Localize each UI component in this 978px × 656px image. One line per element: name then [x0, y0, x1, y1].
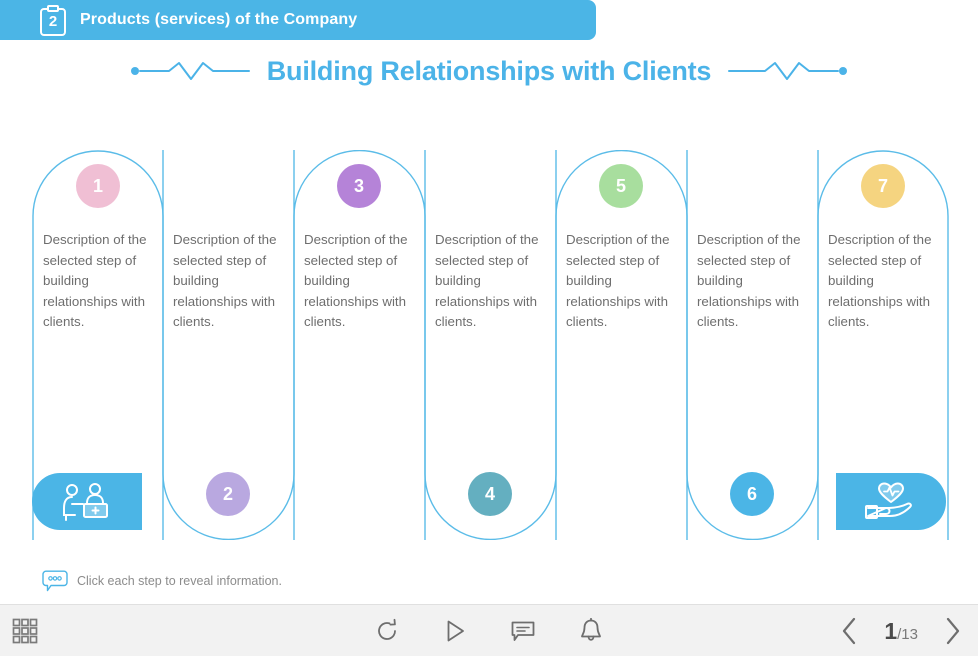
- step-number-badge-4[interactable]: 4: [468, 472, 512, 516]
- step-column-1[interactable]: 1 Description of the selected step of bu…: [33, 150, 164, 540]
- toolbar-center-group: [0, 605, 978, 656]
- step-number-label-2: 2: [223, 484, 233, 505]
- step-description-3: Description of the selected step of buil…: [304, 230, 416, 333]
- section-header-title: Products (services) of the Company: [80, 11, 357, 29]
- bottom-toolbar: 1/13: [0, 604, 978, 656]
- zigzag-decoration-left: [131, 60, 253, 82]
- step-number-label-3: 3: [354, 176, 364, 197]
- step-number-badge-3[interactable]: 3: [337, 164, 381, 208]
- step-column-4[interactable]: 4 Description of the selected step of bu…: [425, 150, 556, 540]
- hint-row: Click each step to reveal information.: [42, 570, 282, 592]
- step-column-3[interactable]: 3 Description of the selected step of bu…: [294, 150, 425, 540]
- slide-title-row: Building Relationships with Clients: [0, 52, 978, 90]
- step-description-2: Description of the selected step of buil…: [173, 230, 285, 333]
- step-column-6[interactable]: 6 Description of the selected step of bu…: [687, 150, 818, 540]
- step-number-label-6: 6: [747, 484, 757, 505]
- step-number-label-5: 5: [616, 176, 626, 197]
- section-header-banner: 2 Products (services) of the Company: [0, 0, 596, 40]
- step-number-badge-2[interactable]: 2: [206, 472, 250, 516]
- bell-icon[interactable]: [578, 618, 604, 644]
- step-description-7: Description of the selected step of buil…: [828, 230, 940, 333]
- current-page-number: 1: [884, 618, 897, 644]
- step-description-4: Description of the selected step of buil…: [435, 230, 547, 333]
- step-column-5[interactable]: 5 Description of the selected step of bu…: [556, 150, 687, 540]
- play-icon[interactable]: [442, 618, 468, 644]
- total-page-count: /13: [897, 626, 918, 643]
- step-column-2[interactable]: 2 Description of the selected step of bu…: [163, 150, 294, 540]
- page-indicator: 1/13: [884, 618, 918, 645]
- clipboard-number: 2: [40, 12, 66, 32]
- next-page-chevron-icon[interactable]: [940, 616, 964, 646]
- comment-icon[interactable]: [510, 618, 536, 644]
- replay-icon[interactable]: [374, 618, 400, 644]
- step-number-label-7: 7: [878, 176, 888, 197]
- prev-page-chevron-icon[interactable]: [838, 616, 862, 646]
- hint-text: Click each step to reveal information.: [77, 574, 282, 588]
- steps-diagram: 1 Description of the selected step of bu…: [0, 150, 978, 540]
- step-description-1: Description of the selected step of buil…: [43, 230, 155, 333]
- step-description-6: Description of the selected step of buil…: [697, 230, 809, 333]
- step-column-7[interactable]: 7 Description of the selected step of bu…: [818, 150, 949, 540]
- clipboard-icon: 2: [40, 5, 66, 36]
- step-number-label-4: 4: [485, 484, 495, 505]
- slide-canvas: 2 Products (services) of the Company Bui…: [0, 0, 978, 656]
- zigzag-decoration-right: [725, 60, 847, 82]
- step-number-badge-6[interactable]: 6: [730, 472, 774, 516]
- speech-bubble-icon: [42, 570, 68, 592]
- step-number-badge-7[interactable]: 7: [861, 164, 905, 208]
- step-number-badge-5[interactable]: 5: [599, 164, 643, 208]
- page-title: Building Relationships with Clients: [267, 56, 712, 87]
- step-number-badge-1[interactable]: 1: [76, 164, 120, 208]
- toolbar-right-group: 1/13: [838, 605, 964, 656]
- step-number-label-1: 1: [93, 176, 103, 197]
- step-description-5: Description of the selected step of buil…: [566, 230, 678, 333]
